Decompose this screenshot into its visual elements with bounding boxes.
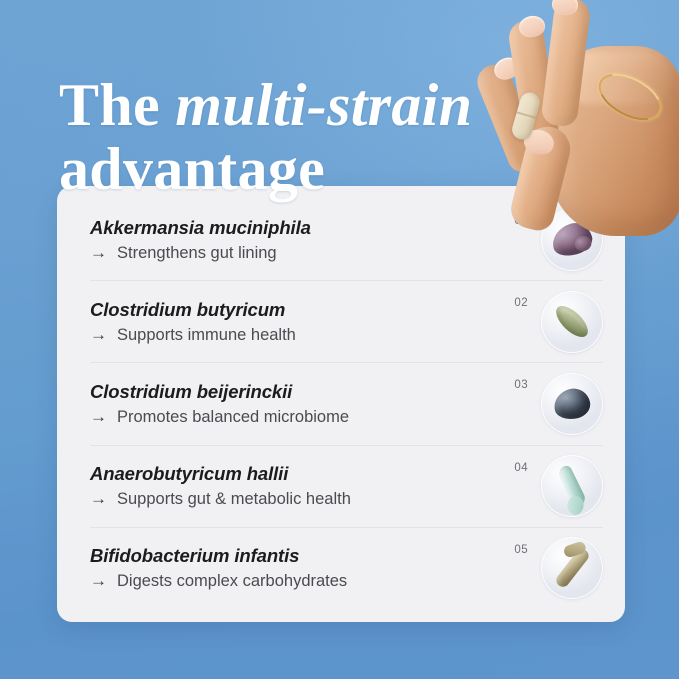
strain-benefit-label: Supports immune health (117, 324, 296, 346)
hand-index-finger (540, 0, 591, 128)
strain-name: Clostridium butyricum (90, 298, 484, 321)
strain-name: Anaerobutyricum hallii (90, 462, 484, 485)
strain-benefit-label: Strengthens gut lining (117, 242, 277, 264)
page-title-emphasis: multi-strain (175, 72, 472, 138)
arrow-right-icon: → (90, 570, 117, 592)
hand-index-finger-nail (551, 0, 579, 17)
strain-name: Bifidobacterium infantis (90, 544, 484, 567)
list-item[interactable]: Anaerobutyricum hallii → Supports gut & … (90, 446, 603, 528)
strain-badge (541, 373, 603, 435)
list-item[interactable]: Bifidobacterium infantis → Digests compl… (90, 528, 603, 609)
strain-benefit: → Digests complex carbohydrates (90, 570, 484, 592)
strain-info: Bifidobacterium infantis → Digests compl… (90, 544, 494, 592)
hand-knuckles (562, 52, 672, 104)
list-item[interactable]: Clostridium butyricum → Supports immune … (90, 281, 603, 363)
arrow-right-icon: → (90, 324, 117, 346)
akkermansia-blob-icon (549, 219, 596, 260)
strain-info: Akkermansia muciniphila → Strengthens gu… (90, 216, 494, 264)
list-item[interactable]: Akkermansia muciniphila → Strengthens gu… (90, 199, 603, 281)
strain-benefit: → Strengthens gut lining (90, 242, 484, 264)
page-title: The multi-strain advantage (59, 73, 529, 201)
strain-benefit: → Supports immune health (90, 324, 484, 346)
hand-middle-finger-nail (518, 14, 547, 39)
clostridium-beijerinckii-blob-icon (551, 386, 592, 423)
page-title-prefix: The (59, 72, 175, 138)
page-title-line-1: The multi-strain (59, 73, 529, 137)
strain-badge (541, 291, 603, 353)
list-item[interactable]: Clostridium beijerinckii → Promotes bala… (90, 363, 603, 445)
strain-benefit-label: Supports gut & metabolic health (117, 488, 351, 510)
clostridium-butyricum-rod-icon (551, 301, 593, 342)
strain-info: Clostridium beijerinckii → Promotes bala… (90, 380, 494, 428)
arrow-right-icon: → (90, 488, 117, 510)
arrow-right-icon: → (90, 242, 117, 264)
strain-info: Anaerobutyricum hallii → Supports gut & … (90, 462, 494, 510)
strain-benefit-label: Digests complex carbohydrates (117, 570, 347, 592)
bifidobacterium-infantis-rod-icon (554, 547, 591, 590)
strain-name: Akkermansia muciniphila (90, 216, 484, 239)
strain-index: 03 (494, 379, 528, 391)
strain-index: 05 (494, 544, 528, 556)
strain-badge (541, 537, 603, 599)
strain-benefit: → Supports gut & metabolic health (90, 488, 484, 510)
strain-index: 04 (494, 462, 528, 474)
strain-list: Akkermansia muciniphila → Strengthens gu… (90, 199, 603, 609)
anaerobutyricum-hallii-rod-icon (557, 463, 587, 509)
strain-name: Clostridium beijerinckii (90, 380, 484, 403)
strain-benefit: → Promotes balanced microbiome (90, 406, 484, 428)
promo-graphic: The multi-strain advantage Akkermansia m… (0, 0, 679, 679)
strain-badge (541, 209, 603, 271)
strain-index: 02 (494, 297, 528, 309)
strain-info: Clostridium butyricum → Supports immune … (90, 298, 494, 346)
strain-index: 01 (494, 215, 528, 227)
arrow-right-icon: → (90, 406, 117, 428)
strain-list-card: Akkermansia muciniphila → Strengthens gu… (57, 186, 625, 622)
gold-ring-icon (591, 64, 669, 129)
strain-benefit-label: Promotes balanced microbiome (117, 406, 349, 428)
page-title-line-2: advantage (59, 137, 529, 201)
strain-badge (541, 455, 603, 517)
